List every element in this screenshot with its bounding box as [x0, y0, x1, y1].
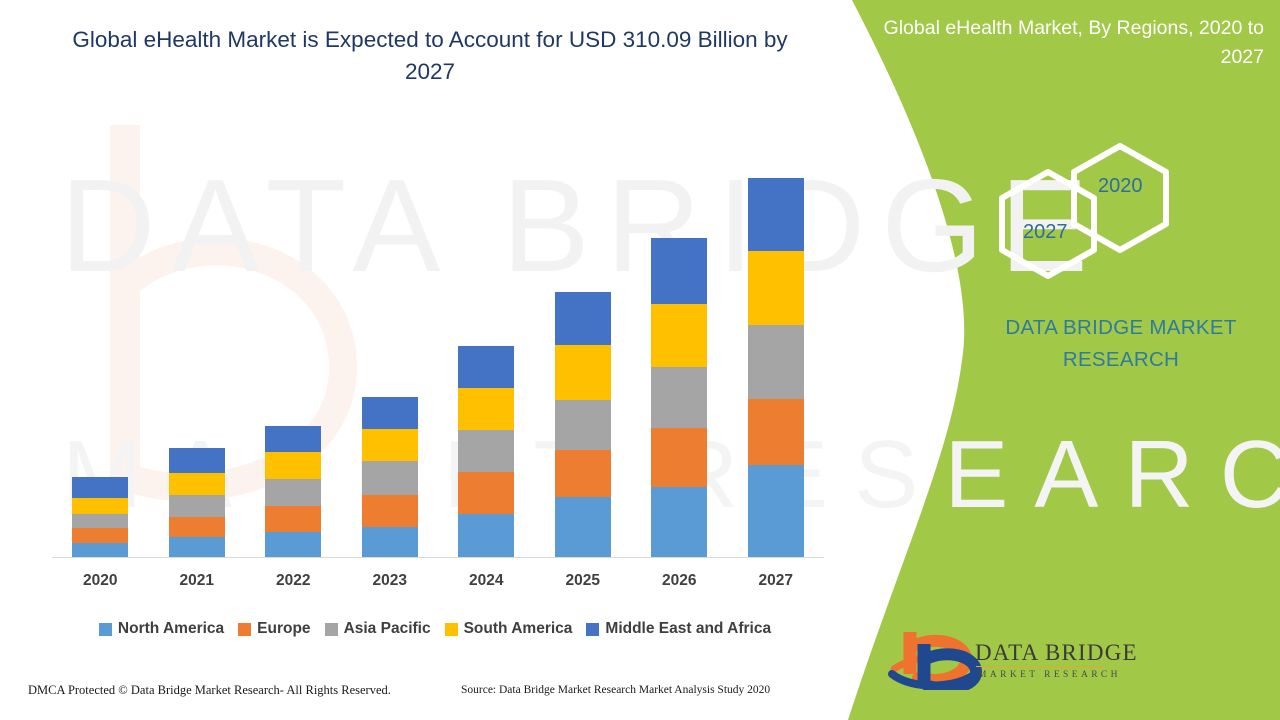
chart-bar: [458, 346, 514, 557]
chart-bar-segment: [169, 517, 225, 537]
legend-label: Asia Pacific: [344, 620, 431, 638]
chart-bar-segment: [555, 345, 611, 400]
chart-bar-segment: [265, 452, 321, 479]
chart-bar-segment: [748, 465, 804, 557]
chart-bar-segment: [362, 429, 418, 461]
chart-bar-segment: [458, 346, 514, 388]
legend-item: Asia Pacific: [325, 620, 431, 638]
x-axis-label: 2025: [535, 572, 631, 590]
chart-bar-segment: [265, 426, 321, 452]
chart-bar-segment: [555, 292, 611, 345]
chart-bar-segment: [748, 325, 804, 399]
page-title: Global eHealth Market is Expected to Acc…: [60, 24, 800, 88]
footer-source: Source: Data Bridge Market Research Mark…: [461, 684, 770, 696]
x-axis-label: 2024: [438, 572, 534, 590]
chart-bar: [651, 238, 707, 557]
chart-bar: [265, 426, 321, 557]
chart-bar-segment: [651, 238, 707, 304]
chart-bar-segment: [458, 430, 514, 472]
chart-bar: [748, 178, 804, 557]
chart-bar: [169, 448, 225, 557]
chart-bar-segment: [748, 178, 804, 251]
legend-item: North America: [99, 620, 224, 638]
legend-swatch-icon: [325, 623, 338, 636]
chart-bar-segment: [458, 388, 514, 430]
hexagon-pair-icon: [980, 138, 1190, 286]
legend-swatch-icon: [238, 623, 251, 636]
chart-bar-segment: [169, 537, 225, 557]
chart-bar-segment: [72, 514, 128, 528]
logo-text-sub: MARKET RESEARCH: [978, 670, 1121, 680]
chart-x-axis-labels: 20202021202220232024202520262027: [52, 572, 824, 598]
chart-bar-segment: [748, 399, 804, 465]
chart-bar-segment: [169, 448, 225, 473]
panel-title: Global eHealth Market, By Regions, 2020 …: [860, 14, 1264, 72]
hexagon-label-2020: 2020: [1098, 175, 1143, 198]
chart-bar: [72, 477, 128, 557]
legend-swatch-icon: [99, 623, 112, 636]
chart-bar-segment: [555, 497, 611, 557]
x-axis-label: 2021: [149, 572, 245, 590]
stacked-bar-chart: [52, 150, 824, 560]
chart-bar-segment: [265, 506, 321, 532]
chart-legend: North AmericaEuropeAsia PacificSouth Ame…: [40, 616, 830, 642]
chart-bar-segment: [362, 527, 418, 557]
legend-swatch-icon: [445, 623, 458, 636]
chart-bar-segment: [651, 304, 707, 367]
x-axis-label: 2022: [245, 572, 341, 590]
legend-label: Middle East and Africa: [605, 620, 771, 638]
chart-bar-segment: [651, 428, 707, 487]
chart-bar-segment: [555, 450, 611, 497]
chart-bar-segment: [169, 495, 225, 517]
footer-copyright: DMCA Protected © Data Bridge Market Rese…: [28, 683, 391, 698]
chart-bar: [555, 292, 611, 557]
x-axis-label: 2023: [342, 572, 438, 590]
legend-swatch-icon: [586, 623, 599, 636]
chart-bar-segment: [72, 528, 128, 543]
infographic-slide: DATA BRIDGE MARKET RESEARCH Global eHeal…: [0, 0, 1280, 720]
legend-item: Europe: [238, 620, 310, 638]
chart-bar-segment: [458, 472, 514, 514]
chart-axis-line: [52, 557, 824, 558]
panel-brand-name: DATA BRIDGE MARKET RESEARCH: [966, 312, 1276, 376]
chart-bar-segment: [555, 400, 611, 450]
legend-item: South America: [445, 620, 573, 638]
chart-bar-segment: [651, 367, 707, 428]
legend-label: South America: [464, 620, 573, 638]
chart-bar-segment: [362, 495, 418, 527]
chart-bar-segment: [72, 543, 128, 557]
logo-text-main: DATA BRIDGE: [975, 640, 1138, 666]
chart-bar: [362, 397, 418, 557]
chart-bar-segment: [748, 251, 804, 325]
x-axis-label: 2020: [52, 572, 148, 590]
chart-bar-segment: [362, 397, 418, 429]
chart-bar-segment: [362, 461, 418, 495]
legend-label: Europe: [257, 620, 310, 638]
x-axis-label: 2027: [728, 572, 824, 590]
chart-bar-segment: [265, 532, 321, 557]
x-axis-label: 2026: [631, 572, 727, 590]
chart-bar-segment: [458, 514, 514, 557]
legend-label: North America: [118, 620, 224, 638]
chart-bar-segment: [265, 479, 321, 506]
legend-item: Middle East and Africa: [586, 620, 771, 638]
chart-bar-segment: [72, 477, 128, 498]
chart-bar-segment: [651, 487, 707, 557]
hexagon-label-2027: 2027: [1023, 221, 1068, 244]
logo-divider: [976, 666, 1104, 667]
chart-bar-segment: [72, 498, 128, 514]
chart-bar-segment: [169, 473, 225, 495]
